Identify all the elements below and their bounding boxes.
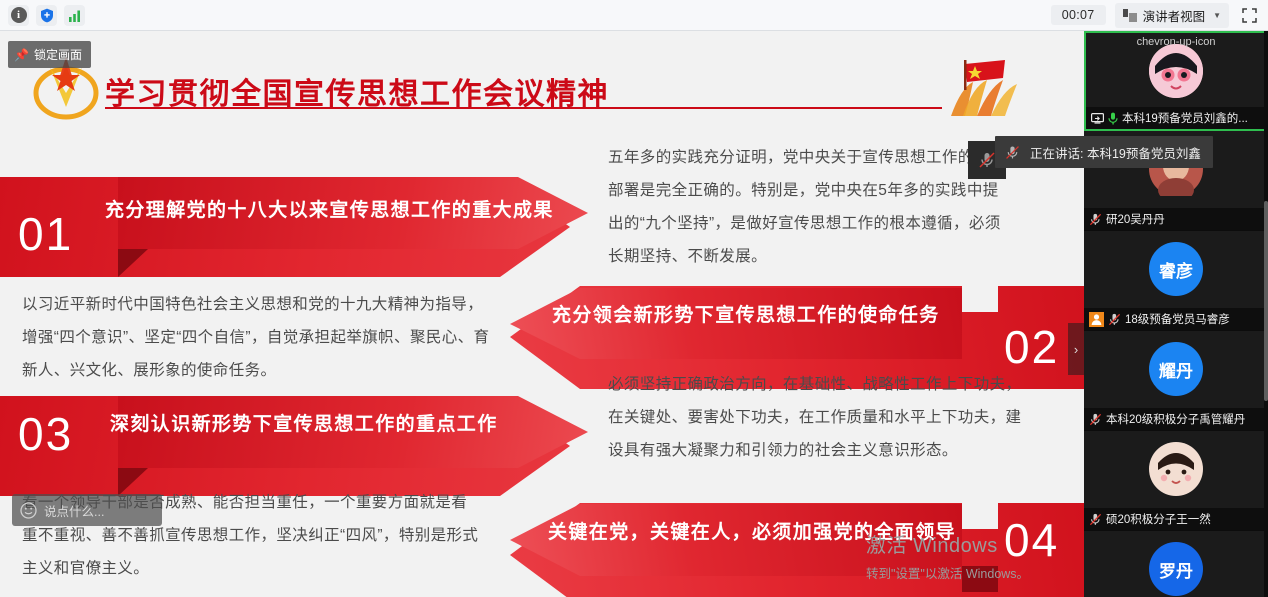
block-heading-02: 充分领会新形势下宣传思想工作的使命任务: [552, 300, 940, 327]
info-icon[interactable]: i: [8, 5, 29, 26]
avatar-initials: 睿彦: [1159, 257, 1193, 282]
active-speaker-toast: 正在讲话: 本科19预备党员刘鑫: [995, 136, 1213, 168]
participant-name-0: 本科19预备党员刘鑫的...: [1122, 110, 1248, 126]
block-banner-04-shadow: [962, 566, 998, 592]
user-orange-icon: [1089, 312, 1104, 327]
participant-name-1: 研20吴丹丹: [1106, 211, 1165, 227]
mic-muted-icon: [1089, 213, 1102, 226]
participant-name-2: 18级预备党员马睿彦: [1125, 311, 1230, 327]
lock-screen-label: 锁定画面: [34, 46, 82, 63]
participant-tile-2[interactable]: 睿彦 18级预备党员马睿彦: [1084, 231, 1268, 331]
avatar-initials: 耀丹: [1159, 357, 1193, 382]
participant-name-3: 本科20级积极分子禹管耀丹: [1106, 411, 1245, 427]
participant-label-1: 研20吴丹丹: [1084, 208, 1268, 230]
screen-share-icon: [1091, 113, 1104, 124]
toolbar-right-group: 00:07 演讲者视图 ▼: [1051, 3, 1260, 28]
view-mode-dropdown[interactable]: 演讲者视图 ▼: [1115, 3, 1229, 28]
fullscreen-icon[interactable]: [1238, 4, 1260, 26]
block-body-01: 五年多的实践充分证明，党中央关于宣传思想工作的决策部署是完全正确的。特别是，党中…: [608, 141, 1008, 273]
block-number-03: 03: [18, 411, 73, 457]
presenter-view-icon: [1123, 9, 1137, 22]
toolbar-left-group: i: [8, 5, 85, 26]
avatar: 耀丹: [1149, 342, 1203, 396]
chat-input-bar[interactable]: 说点什么...: [12, 494, 162, 526]
avatar: [1149, 44, 1203, 98]
panel-scrollbar-thumb[interactable]: [1264, 201, 1268, 401]
block-number-04: 04: [1004, 517, 1059, 563]
participant-label-3: 本科20级积极分子禹管耀丹: [1084, 408, 1268, 430]
mic-muted-icon: [1004, 144, 1021, 161]
participant-tile-4[interactable]: 硕20积极分子王一然: [1084, 431, 1268, 531]
block-banner-04-notch: [962, 503, 998, 529]
participant-tile-3[interactable]: 耀丹 本科20级积极分子禹管耀丹: [1084, 331, 1268, 431]
title-underline: [105, 107, 942, 109]
participant-label-0: 本科19预备党员刘鑫的...: [1086, 107, 1266, 129]
slide-canvas[interactable]: 学习贯彻全国宣传思想工作会议精神 01 充分理解党的十八大以来宣传思想工作的重大…: [0, 31, 1084, 597]
shield-security-icon[interactable]: [36, 5, 57, 26]
block-heading-01: 充分理解党的十八大以来宣传思想工作的重大成果: [105, 195, 554, 222]
block-heading-04: 关键在党，关键在人，必须加强党的全面领导: [548, 517, 956, 544]
avatar: 睿彦: [1149, 242, 1203, 296]
next-slide-button[interactable]: ›: [1068, 323, 1084, 375]
participant-name-4: 硕20积极分子王一然: [1106, 511, 1211, 527]
block-heading-03: 深刻认识新形势下宣传思想工作的重点工作: [110, 409, 498, 436]
presentation-timer: 00:07: [1051, 5, 1106, 25]
participant-tile-5[interactable]: 罗丹: [1084, 531, 1268, 597]
avatar: 罗丹: [1149, 542, 1203, 596]
block-banner-02-notch: [962, 286, 998, 312]
chat-placeholder: 说点什么...: [44, 501, 104, 520]
block-number-02: 02: [1004, 324, 1059, 370]
active-speaker-text: 正在讲话: 本科19预备党员刘鑫: [1030, 143, 1201, 162]
panel-scrollbar-track[interactable]: [1264, 31, 1268, 597]
participant-tile-0[interactable]: chevron-up-icon: [1084, 31, 1268, 131]
lock-screen-button[interactable]: 📌 锁定画面: [8, 41, 91, 68]
smiley-emoji-icon: [20, 502, 37, 519]
mic-muted-icon: [1089, 413, 1102, 426]
participant-label-2: 18级预备党员马睿彦: [1084, 308, 1268, 330]
network-signal-icon[interactable]: [64, 5, 85, 26]
presentation-meeting-window: i 00:07: [0, 0, 1268, 597]
block-body-02: 以习近平新时代中国特色社会主义思想和党的十九大精神为指导，增强“四个意识”、坚定…: [22, 288, 492, 387]
avatar-initials: 罗丹: [1159, 557, 1193, 582]
mic-muted-icon: [1089, 513, 1102, 526]
block-body-03: 必须坚持正确政治方向，在基础性、战略性工作上下功夫，在关键处、要害处下功夫，在工…: [608, 368, 1033, 467]
mic-muted-icon: [1108, 313, 1121, 326]
block-number-01: 01: [18, 211, 73, 257]
chevron-up-icon[interactable]: chevron-up-icon: [1137, 36, 1216, 48]
avatar: [1149, 442, 1203, 496]
red-flag-art-icon: [943, 58, 1029, 118]
mic-on-icon: [1108, 112, 1118, 125]
chevron-down-icon: ▼: [1213, 11, 1221, 20]
pin-icon: 📌: [14, 49, 29, 61]
participant-video-panel: chevron-up-icon: [1084, 31, 1268, 597]
view-mode-label: 演讲者视图: [1143, 6, 1206, 25]
top-toolbar: i 00:07: [0, 0, 1268, 31]
participant-label-4: 硕20积极分子王一然: [1084, 508, 1268, 530]
